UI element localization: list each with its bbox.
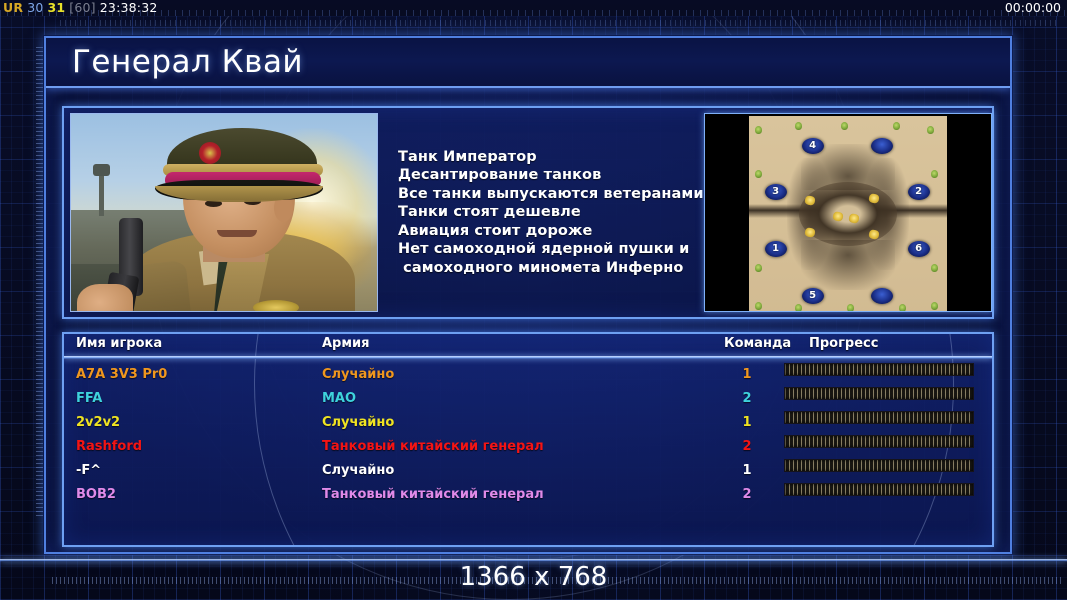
- portrait-wing-badge: [253, 300, 299, 312]
- player-name: BOB2: [76, 483, 116, 507]
- player-name: 2v2v2: [76, 411, 120, 435]
- general-portrait: [70, 113, 378, 312]
- player-army: Случайно: [322, 411, 394, 435]
- map-start-position[interactable]: 2: [908, 184, 930, 200]
- description-line: Все танки выпускаются ветеранами: [398, 185, 704, 204]
- map-tree-icon: [755, 264, 762, 272]
- map-tree-icon: [931, 264, 938, 272]
- column-header-player: Имя игрока: [76, 336, 162, 351]
- column-header-progress: Прогресс: [809, 336, 878, 351]
- map-tree-icon: [893, 122, 900, 130]
- system-clock: 23:38:32: [100, 0, 158, 15]
- player-team: 1: [736, 459, 758, 483]
- portrait-pole: [99, 170, 104, 216]
- map-start-position[interactable]: 5: [802, 288, 824, 304]
- description-line: Танки стоят дешевле: [398, 203, 704, 222]
- table-row[interactable]: FFAMAO2: [64, 387, 992, 411]
- player-list-panel: Имя игрока Армия Команда Прогресс A7A 3V…: [62, 332, 994, 547]
- player-progress: [784, 387, 974, 411]
- map-start-position[interactable]: [871, 138, 893, 154]
- map-tree-icon: [755, 126, 762, 134]
- fps-overlay: UR3031[60]23:38:32: [3, 0, 162, 16]
- map-start-position[interactable]: 6: [908, 241, 930, 257]
- description-line: самоходного миномета Инферно: [398, 259, 704, 278]
- player-list-header: Имя игрока Армия Команда Прогресс: [64, 334, 992, 356]
- player-army: Случайно: [322, 363, 394, 387]
- title-band: Генерал Квай: [46, 38, 1010, 88]
- table-row[interactable]: A7A 3V3 Pr0Случайно1: [64, 363, 992, 387]
- map-tree-icon: [755, 302, 762, 310]
- description-line: Нет самоходной ядерной пушки и: [398, 240, 704, 259]
- player-team: 1: [736, 411, 758, 435]
- fps-max: [60]: [69, 0, 95, 15]
- player-name: Rashford: [76, 435, 142, 459]
- game-lobby-screen: UR3031[60]23:38:32 00:00:00 Генерал Квай: [0, 0, 1067, 600]
- progress-bar: [784, 435, 974, 448]
- progress-bar: [784, 459, 974, 472]
- map-tree-icon: [795, 122, 802, 130]
- description-list: Танк ИмператорДесантирование танковВсе т…: [378, 148, 704, 278]
- general-description: Танк ИмператорДесантирование танковВсе т…: [378, 108, 704, 317]
- map-tree-icon: [931, 302, 938, 310]
- map-preview[interactable]: 432165: [704, 113, 992, 312]
- top-ruler: [60, 20, 1060, 26]
- map-tree-icon: [755, 170, 762, 178]
- player-progress: [784, 363, 974, 387]
- table-row[interactable]: RashfordТанковый китайский генерал2: [64, 435, 992, 459]
- map-tree-icon: [899, 304, 906, 312]
- column-header-team: Команда: [724, 336, 791, 351]
- page-title: Генерал Квай: [72, 44, 303, 80]
- player-rows: A7A 3V3 Pr0Случайно1FFAMAO22v2v2Случайно…: [64, 363, 992, 507]
- portrait-pole-top: [93, 164, 110, 176]
- player-name: A7A 3V3 Pr0: [76, 363, 167, 387]
- map-tree-icon: [841, 122, 848, 130]
- player-name: -F^: [76, 459, 101, 483]
- main-panel: Генерал Квай: [44, 36, 1012, 554]
- elapsed-timer: 00:00:00: [1005, 0, 1061, 16]
- player-name: FFA: [76, 387, 102, 411]
- map-tree-icon: [847, 304, 854, 312]
- fps-current: 30: [27, 0, 43, 15]
- resolution-label: 1366 x 768: [0, 562, 1067, 592]
- description-line: Десантирование танков: [398, 166, 704, 185]
- fps-label-ur: UR: [3, 0, 23, 15]
- fps-alt: 31: [48, 0, 66, 15]
- progress-bar: [784, 363, 974, 376]
- player-progress: [784, 411, 974, 435]
- player-team: 1: [736, 363, 758, 387]
- table-row[interactable]: 2v2v2Случайно1: [64, 411, 992, 435]
- player-progress: [784, 459, 974, 483]
- header-separator: [64, 356, 992, 359]
- map-tree-icon: [795, 304, 802, 312]
- description-line: Авиация стоит дороже: [398, 222, 704, 241]
- player-team: 2: [736, 435, 758, 459]
- map-start-position[interactable]: [871, 288, 893, 304]
- player-army: Случайно: [322, 459, 394, 483]
- player-progress: [784, 483, 974, 507]
- portrait-hand: [77, 284, 133, 312]
- map-tree-icon: [927, 126, 934, 134]
- progress-bar: [784, 387, 974, 400]
- table-row[interactable]: -F^Случайно1: [64, 459, 992, 483]
- map-preview-image: 432165: [749, 116, 947, 312]
- map-start-position[interactable]: 4: [802, 138, 824, 154]
- portrait-mouth: [217, 230, 257, 237]
- column-header-army: Армия: [322, 336, 369, 351]
- status-bar: UR3031[60]23:38:32 00:00:00: [0, 0, 1067, 16]
- player-team: 2: [736, 387, 758, 411]
- map-start-position[interactable]: 1: [765, 241, 787, 257]
- map-start-position[interactable]: 3: [765, 184, 787, 200]
- general-info-panel: Танк ИмператорДесантирование танковВсе т…: [62, 106, 994, 319]
- left-ruler: [36, 46, 43, 516]
- map-tree-icon: [931, 170, 938, 178]
- player-army: Танковый китайский генерал: [322, 435, 544, 459]
- player-team: 2: [736, 483, 758, 507]
- portrait-cap-badge: [199, 142, 221, 164]
- player-progress: [784, 435, 974, 459]
- player-army: MAO: [322, 387, 356, 411]
- progress-bar: [784, 411, 974, 424]
- progress-bar: [784, 483, 974, 496]
- description-line: Танк Император: [398, 148, 704, 167]
- player-army: Танковый китайский генерал: [322, 483, 544, 507]
- table-row[interactable]: BOB2Танковый китайский генерал2: [64, 483, 992, 507]
